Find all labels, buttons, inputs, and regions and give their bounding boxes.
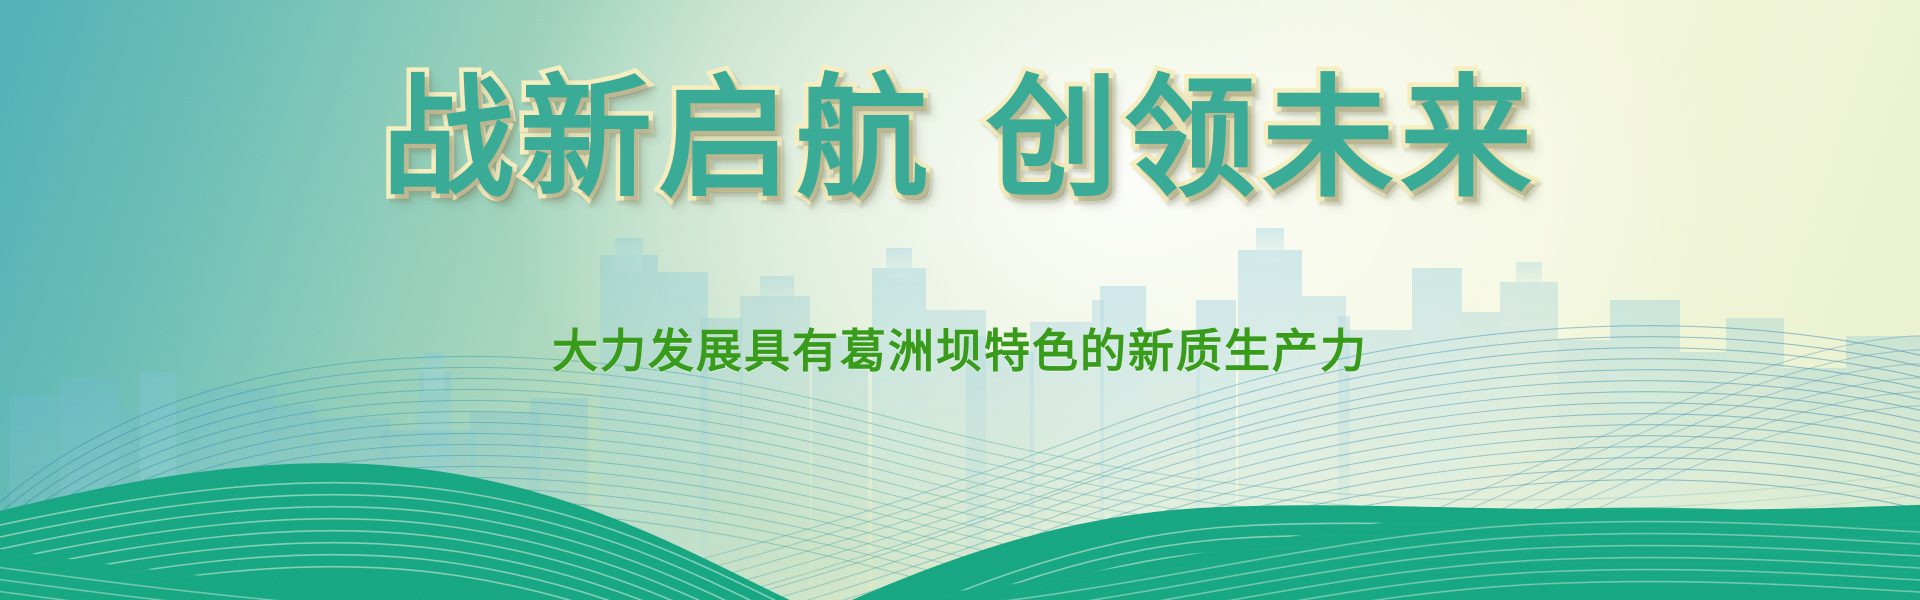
subtitle: 大力发展具有葛洲坝特色的新质生产力: [552, 315, 1368, 381]
main-title: 战新启航 创领未来: [382, 68, 1538, 211]
banner-root: 战新启航 创领未来 大力发展具有葛洲坝特色的新质生产力: [0, 0, 1920, 600]
banner-text-block: 战新启航 创领未来 大力发展具有葛洲坝特色的新质生产力: [0, 0, 1920, 600]
